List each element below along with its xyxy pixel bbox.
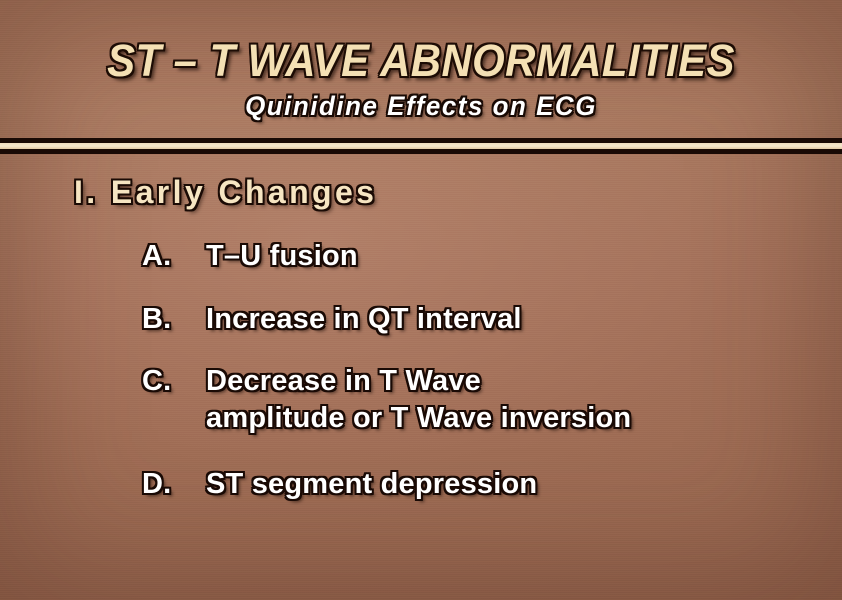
list-item-marker: A. [142, 238, 206, 275]
slide-title: ST – T WAVE ABNORMALITIES [29, 0, 812, 84]
section-heading-early-changes: I. Early Changes [0, 172, 842, 212]
slide-body: I. Early Changes A. T–U fusion B. Increa… [0, 172, 842, 503]
slide-header: ST – T WAVE ABNORMALITIES Quinidine Effe… [0, 0, 842, 122]
list-item-text: T–U fusion [206, 238, 842, 275]
slide-subtitle: Quinidine Effects on ECG [17, 84, 825, 122]
list-item-marker: D. [142, 466, 206, 503]
list-item-text: Decrease in T Wave amplitude or T Wave i… [206, 363, 842, 436]
list-item: C. Decrease in T Wave amplitude or T Wav… [142, 363, 842, 436]
list-item-text: ST segment depression [206, 466, 842, 503]
list-item: D. ST segment depression [142, 466, 842, 503]
list-item-text: Increase in QT interval [206, 301, 842, 338]
list-item: A. T–U fusion [142, 238, 842, 275]
divider-dark-band-bottom [0, 149, 842, 154]
header-divider-rule [0, 138, 842, 156]
list-item-marker: B. [142, 301, 206, 338]
list-item-marker: C. [142, 363, 206, 400]
outline-sub-list: A. T–U fusion B. Increase in QT interval… [0, 238, 842, 503]
presentation-slide: ST – T WAVE ABNORMALITIES Quinidine Effe… [0, 0, 842, 600]
list-item: B. Increase in QT interval [142, 301, 842, 338]
